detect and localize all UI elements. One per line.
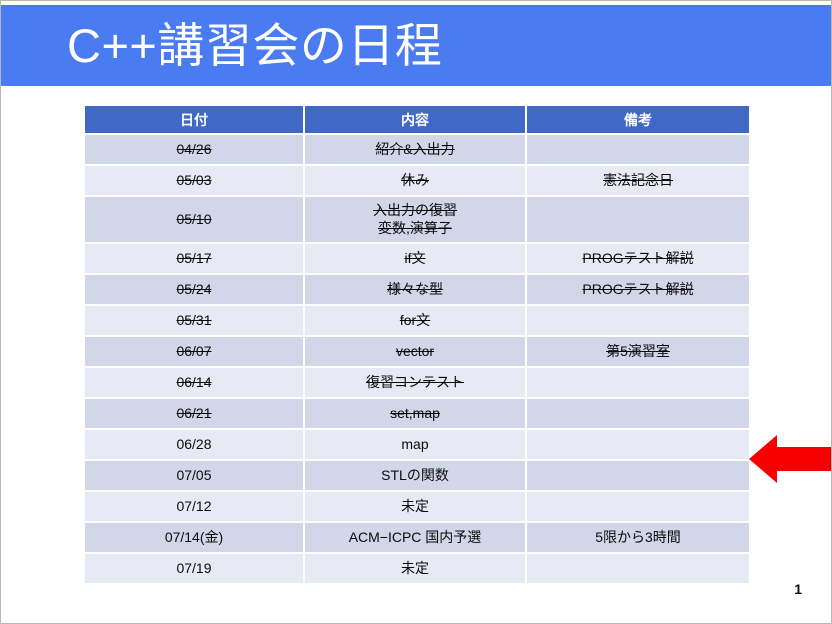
cell-text: 憲法記念日 — [603, 172, 673, 188]
table-row: 04/26紹介&入出力 — [85, 135, 749, 166]
cell-date: 07/19 — [85, 554, 305, 585]
cell-text: map — [401, 436, 428, 452]
cell-date: 06/07 — [85, 337, 305, 368]
cell-text: 06/21 — [176, 405, 211, 421]
table-row: 07/14(金)ACM−ICPC 国内予選5限から3時間 — [85, 523, 749, 554]
cell-date: 05/10 — [85, 197, 305, 244]
cell-content: 未定 — [305, 554, 527, 585]
cell-text: 07/14(金) — [165, 529, 223, 545]
cell-content: set,map — [305, 399, 527, 430]
cell-note: PROGテスト解説 — [527, 275, 749, 306]
table-row: 07/19未定 — [85, 554, 749, 585]
cell-content: vector — [305, 337, 527, 368]
table-header: 日付 内容 備考 — [85, 106, 749, 135]
cell-date: 06/14 — [85, 368, 305, 399]
cell-date: 04/26 — [85, 135, 305, 166]
cell-note: PROGテスト解説 — [527, 244, 749, 275]
page-number: 1 — [794, 581, 802, 597]
cell-text: vector — [396, 343, 434, 359]
table-body: 04/26紹介&入出力05/03休み憲法記念日05/10入出力の復習変数,演算子… — [85, 135, 749, 585]
cell-note — [527, 461, 749, 492]
cell-text: 06/28 — [176, 436, 211, 452]
cell-content: STLの関数 — [305, 461, 527, 492]
cell-content: 未定 — [305, 492, 527, 523]
cell-text: 07/05 — [176, 467, 211, 483]
table-row: 05/03休み憲法記念日 — [85, 166, 749, 197]
cell-note — [527, 430, 749, 461]
cell-text: set,map — [390, 405, 440, 421]
column-header-content: 内容 — [305, 106, 527, 135]
cell-text: STLの関数 — [381, 467, 449, 483]
cell-text: 06/07 — [176, 343, 211, 359]
cell-text: 未定 — [401, 560, 429, 576]
cell-text: 5限から3時間 — [595, 529, 681, 545]
cell-note — [527, 306, 749, 337]
cell-date: 05/31 — [85, 306, 305, 337]
cell-text: 未定 — [401, 498, 429, 514]
cell-text: ACM−ICPC 国内予選 — [349, 529, 482, 545]
cell-content: map — [305, 430, 527, 461]
slide-canvas: C++講習会の日程 日付 内容 備考 04/26紹介&入出力05/03休み憲法記… — [0, 0, 832, 624]
cell-content: for文 — [305, 306, 527, 337]
cell-content: 休み — [305, 166, 527, 197]
cell-note — [527, 399, 749, 430]
cell-text-line: 変数,演算子 — [309, 220, 521, 238]
cell-date: 06/21 — [85, 399, 305, 430]
cell-content: 復習コンテスト — [305, 368, 527, 399]
cell-note: 憲法記念日 — [527, 166, 749, 197]
cell-note — [527, 492, 749, 523]
table-row: 06/21set,map — [85, 399, 749, 430]
table-row: 07/12未定 — [85, 492, 749, 523]
cell-text: 紹介&入出力 — [375, 141, 454, 157]
cell-note — [527, 135, 749, 166]
table-row: 05/17if文PROGテスト解説 — [85, 244, 749, 275]
cell-note — [527, 554, 749, 585]
cell-date: 05/17 — [85, 244, 305, 275]
column-header-note: 備考 — [527, 106, 749, 135]
cell-text: if文 — [405, 250, 426, 266]
arrow-left-icon — [749, 433, 832, 485]
cell-text: 05/17 — [176, 250, 211, 266]
cell-text-line: 入出力の復習 — [309, 202, 521, 220]
title-banner: C++講習会の日程 — [1, 5, 832, 86]
table-header-row: 日付 内容 備考 — [85, 106, 749, 135]
column-header-date: 日付 — [85, 106, 305, 135]
cell-content: if文 — [305, 244, 527, 275]
table-row: 05/24様々な型PROGテスト解説 — [85, 275, 749, 306]
table-row: 06/07vector第5演習室 — [85, 337, 749, 368]
cell-text: 復習コンテスト — [366, 374, 464, 390]
cell-text: 07/19 — [176, 560, 211, 576]
cell-text: for文 — [400, 312, 430, 328]
cell-text: 第5演習室 — [606, 343, 670, 359]
table-row: 06/28map — [85, 430, 749, 461]
page-title: C++講習会の日程 — [67, 21, 442, 70]
cell-text: 05/03 — [176, 172, 211, 188]
cell-text: 04/26 — [176, 141, 211, 157]
cell-note: 第5演習室 — [527, 337, 749, 368]
table-row: 05/10入出力の復習変数,演算子 — [85, 197, 749, 244]
cell-text: 様々な型 — [387, 281, 443, 297]
cell-note — [527, 368, 749, 399]
cell-text: 休み — [401, 172, 429, 188]
cell-text: 07/12 — [176, 498, 211, 514]
cell-text: 05/24 — [176, 281, 211, 297]
table-row: 06/14復習コンテスト — [85, 368, 749, 399]
cell-text: PROGテスト解説 — [582, 250, 693, 266]
cell-date: 05/03 — [85, 166, 305, 197]
table-row: 05/31for文 — [85, 306, 749, 337]
cell-content: ACM−ICPC 国内予選 — [305, 523, 527, 554]
cell-date: 07/05 — [85, 461, 305, 492]
table-row: 07/05STLの関数 — [85, 461, 749, 492]
cell-note: 5限から3時間 — [527, 523, 749, 554]
cell-text: 06/14 — [176, 374, 211, 390]
cell-text: 05/31 — [176, 312, 211, 328]
cell-date: 07/12 — [85, 492, 305, 523]
cell-text: 05/10 — [176, 211, 211, 227]
cell-content: 紹介&入出力 — [305, 135, 527, 166]
cell-date: 06/28 — [85, 430, 305, 461]
cell-date: 05/24 — [85, 275, 305, 306]
cell-text: PROGテスト解説 — [582, 281, 693, 297]
cell-content: 様々な型 — [305, 275, 527, 306]
cell-note — [527, 197, 749, 244]
cell-content: 入出力の復習変数,演算子 — [305, 197, 527, 244]
cell-date: 07/14(金) — [85, 523, 305, 554]
schedule-table: 日付 内容 備考 04/26紹介&入出力05/03休み憲法記念日05/10入出力… — [85, 106, 749, 585]
